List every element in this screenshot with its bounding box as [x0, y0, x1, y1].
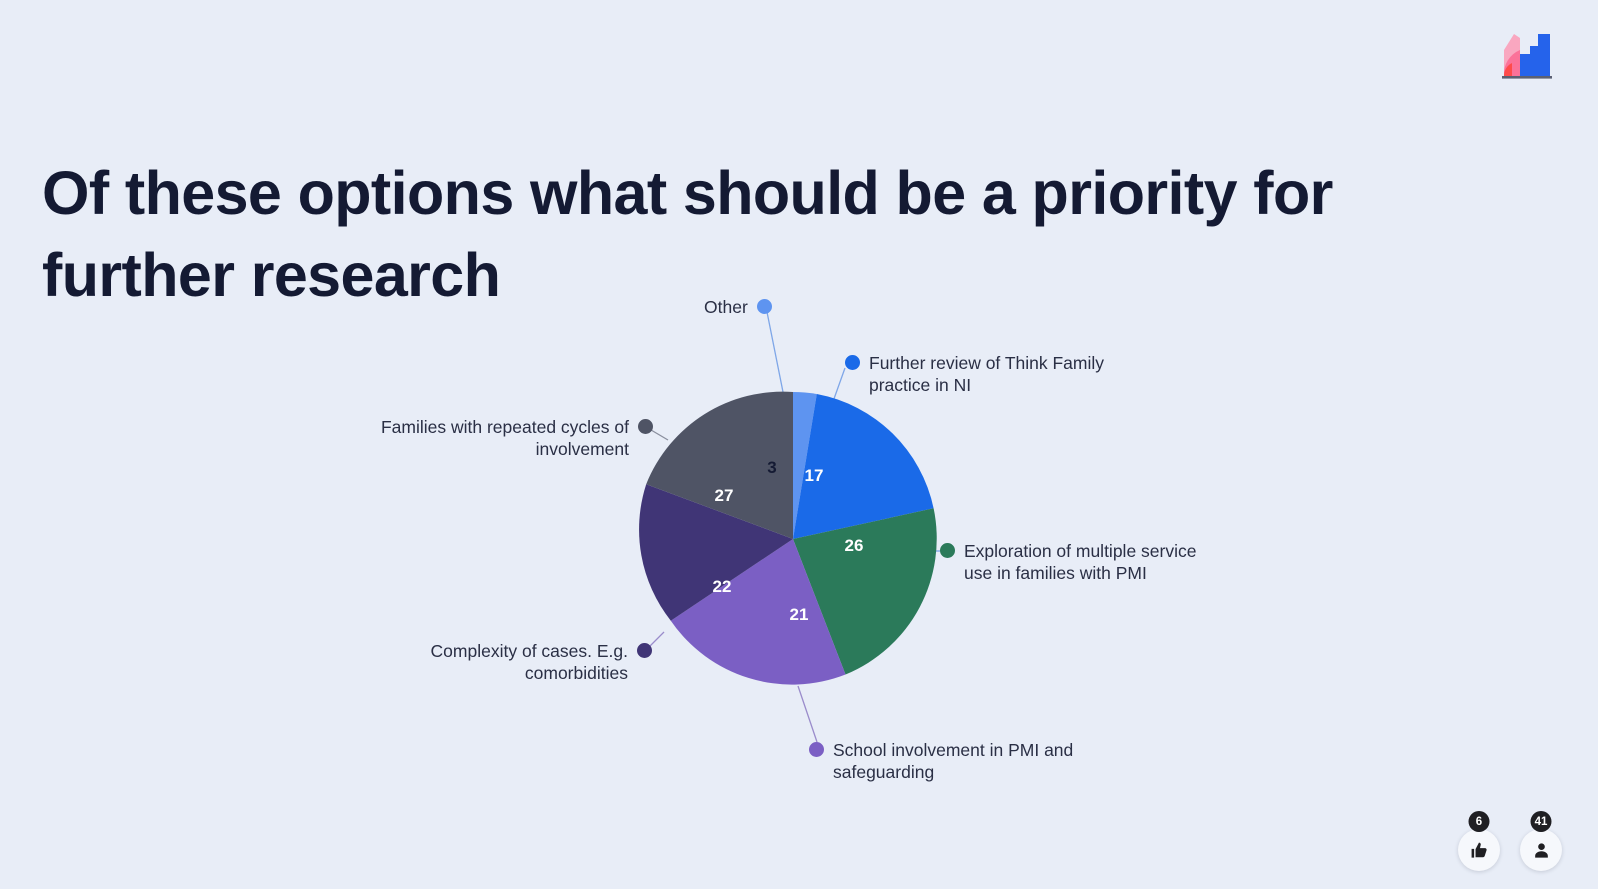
- mentimeter-logo: [1490, 28, 1556, 86]
- legend-item-exploration: Exploration of multiple service use in f…: [940, 540, 1212, 585]
- like-button[interactable]: 6: [1458, 829, 1500, 871]
- slice-value-think-family: 17: [805, 466, 824, 485]
- pie-slice-school: [671, 539, 846, 685]
- pie-slice-families: [646, 392, 793, 539]
- legend-item-other: Other: [704, 296, 772, 318]
- participants-count-badge: 41: [1531, 811, 1552, 832]
- pie-chart: 3 17 26 21 22 27: [0, 0, 1598, 889]
- legend-label-school: School involvement in PMI and safeguardi…: [833, 739, 1085, 784]
- thumbs-up-icon: [1470, 841, 1489, 860]
- pie-slice-other: [793, 392, 817, 539]
- legend-dot-complexity: [637, 643, 652, 658]
- participants-button[interactable]: 41: [1520, 829, 1562, 871]
- pie-slice-complexity: [639, 484, 793, 621]
- pie-slice-exploration: [793, 508, 937, 674]
- legend-label-families: Families with repeated cycles of involve…: [369, 416, 629, 461]
- person-icon: [1532, 841, 1551, 860]
- legend-item-families: Families with repeated cycles of involve…: [369, 416, 653, 461]
- slice-value-families: 27: [715, 486, 734, 505]
- legend-dot-families: [638, 419, 653, 434]
- page-title: Of these options what should be a priori…: [42, 153, 1422, 316]
- legend-label-think-family: Further review of Think Family practice …: [869, 352, 1113, 397]
- slice-value-exploration: 26: [845, 536, 864, 555]
- slice-value-complexity: 22: [713, 577, 732, 596]
- legend-dot-other: [757, 299, 772, 314]
- leader-line-think-family: [830, 368, 845, 410]
- slice-value-school: 21: [790, 605, 809, 624]
- legend-dot-think-family: [845, 355, 860, 370]
- like-count-badge: 6: [1469, 811, 1490, 832]
- legend-dot-exploration: [940, 543, 955, 558]
- slice-value-other: 3: [767, 458, 776, 477]
- legend-label-complexity: Complexity of cases. E.g. comorbidities: [428, 640, 628, 685]
- leader-line-other: [767, 312, 784, 397]
- leader-line-school: [798, 686, 817, 742]
- legend-item-think-family: Further review of Think Family practice …: [845, 352, 1113, 397]
- legend-label-other: Other: [704, 296, 748, 318]
- legend-item-complexity: Complexity of cases. E.g. comorbidities: [428, 640, 652, 685]
- legend-item-school: School involvement in PMI and safeguardi…: [809, 739, 1085, 784]
- legend-dot-school: [809, 742, 824, 757]
- legend-label-exploration: Exploration of multiple service use in f…: [964, 540, 1212, 585]
- pie-slice-think-family: [793, 394, 934, 539]
